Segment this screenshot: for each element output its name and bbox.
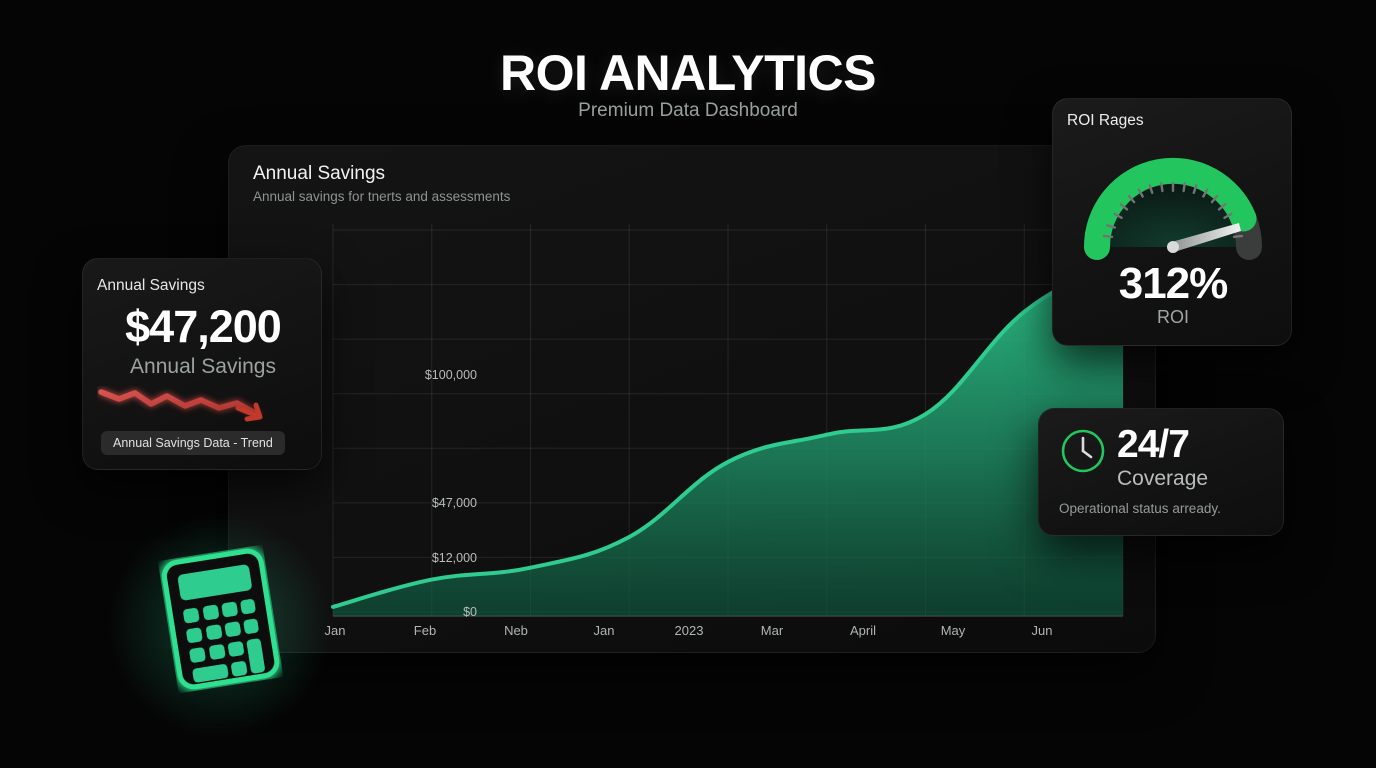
calculator-decoration (158, 545, 284, 699)
gauge-card-title: ROI Rages (1067, 112, 1144, 130)
x-axis-label-0: Jan (300, 623, 370, 638)
annual-savings-kpi-card[interactable]: Annual Savings $47,200 Annual Savings An… (82, 258, 322, 470)
gauge-value: 312% (1053, 259, 1293, 309)
clock-icon (1059, 427, 1107, 475)
coverage-subhead: Coverage (1117, 467, 1208, 491)
kpi-trend-badge[interactable]: Annual Savings Data - Trend (101, 431, 285, 455)
coverage-card[interactable]: 24/7 Coverage Operational status arready… (1038, 408, 1284, 536)
x-axis-label-5: Mar (737, 623, 807, 638)
x-axis-label-8: Jun (1007, 623, 1077, 638)
gauge-unit: ROI (1053, 307, 1293, 328)
kpi-label: Annual Savings (97, 277, 205, 295)
coverage-headline: 24/7 (1117, 423, 1189, 467)
area-chart-svg (229, 146, 1157, 654)
dashboard-root: ROI ANALYTICS Premium Data Dashboard Ann… (0, 0, 1376, 768)
kpi-value: $47,200 (83, 301, 323, 353)
x-axis-label-2: Neb (481, 623, 551, 638)
roi-gauge-card[interactable]: ROI Rages (1052, 98, 1292, 346)
x-axis-label-7: May (918, 623, 988, 638)
x-axis-label-6: April (828, 623, 898, 638)
kpi-caption: Annual Savings (83, 355, 323, 379)
x-axis-label-1: Feb (390, 623, 460, 638)
page-title: ROI ANALYTICS (0, 44, 1376, 102)
y-axis-label-2: $12,000 (397, 551, 477, 565)
chart-plot-area[interactable]: $100,000 $47,000 $12,000 $0 Jan Feb Neb … (229, 146, 1157, 654)
x-axis-label-3: Jan (569, 623, 639, 638)
coverage-note: Operational status arready. (1059, 501, 1221, 516)
y-axis-label-1: $47,000 (397, 496, 477, 510)
y-axis-label-3: $0 (397, 605, 477, 619)
annual-savings-chart-card: Annual Savings Annual savings for tnerts… (228, 145, 1156, 653)
y-axis-label-0: $100,000 (397, 368, 477, 382)
roi-gauge-icon (1071, 141, 1275, 261)
trend-down-arrow-icon (97, 386, 297, 428)
calculator-icon (158, 545, 284, 694)
x-axis-label-4: 2023 (654, 623, 724, 638)
